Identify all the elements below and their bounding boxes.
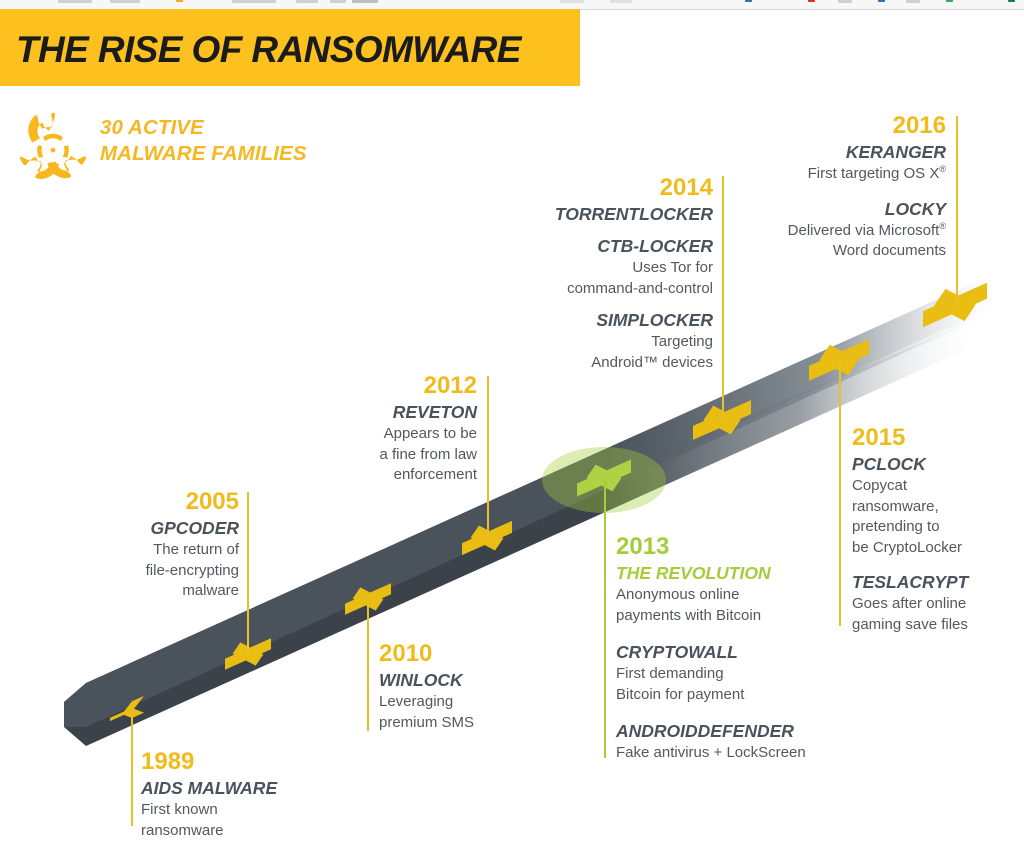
entry-year: 2013 — [616, 533, 876, 561]
connector-2016 — [956, 116, 958, 306]
entry-1989: 1989 AIDS MALWARE First knownransomware — [141, 748, 361, 841]
entry-family: WINLOCK — [379, 669, 599, 692]
entry-desc: Goes after onlinegaming save files — [852, 594, 1024, 635]
entry-desc: First knownransomware — [141, 800, 361, 841]
entry-family: PCLOCK — [852, 453, 1024, 476]
entry-year: 2016 — [730, 112, 946, 140]
entry-desc: Leveragingpremium SMS — [379, 692, 599, 733]
connector-2010 — [367, 601, 369, 731]
entry-year: 2015 — [852, 424, 1024, 452]
connector-2014 — [722, 176, 724, 422]
entry-desc: First targeting OS X® — [730, 164, 946, 185]
entry-desc: Delivered via Microsoft®Word documents — [730, 221, 946, 262]
entry-family: CTB-LOCKER — [494, 235, 713, 258]
entry-2015: 2015 PCLOCK Copycatransomware,pretending… — [852, 424, 1024, 635]
connector-2013 — [604, 480, 606, 758]
entry-family: CRYPTOWALL — [616, 641, 876, 664]
entry-family: LOCKY — [730, 198, 946, 221]
entry-2005: 2005 GPCODER The return offile-encryptin… — [20, 488, 239, 602]
infographic-page: THE RISE OF RANSOMWARE 30 ACTIVE — [0, 0, 1024, 858]
entry-desc: Uses Tor forcommand-and-control — [494, 258, 713, 299]
entry-year: 1989 — [141, 748, 361, 776]
entry-desc: Fake antivirus + LockScreen — [616, 743, 876, 764]
entry-family: TORRENTLOCKER — [494, 203, 713, 226]
entry-2010: 2010 WINLOCK Leveragingpremium SMS — [379, 640, 599, 733]
entry-2013: 2013 THE REVOLUTION Anonymous onlinepaym… — [616, 533, 876, 764]
entry-year: 2014 — [494, 174, 713, 202]
connector-2005 — [247, 492, 249, 654]
entry-year: 2012 — [258, 372, 477, 400]
entry-desc: First demandingBitcoin for payment — [616, 664, 876, 705]
entry-family: THE REVOLUTION — [616, 562, 876, 585]
entry-family: TESLACRYPT — [852, 571, 1024, 594]
entry-desc: Appears to bea fine from lawenforcement — [258, 424, 477, 486]
entry-2016: 2016 KERANGER First targeting OS X® LOCK… — [730, 112, 946, 262]
entry-family: SIMPLOCKER — [494, 309, 713, 332]
entry-family: GPCODER — [20, 517, 239, 540]
entry-desc: Copycatransomware,pretending tobe Crypto… — [852, 476, 1024, 558]
entry-family: KERANGER — [730, 141, 946, 164]
entry-year: 2005 — [20, 488, 239, 516]
entry-year: 2010 — [379, 640, 599, 668]
entry-desc: Anonymous onlinepayments with Bitcoin — [616, 585, 876, 626]
entry-desc: The return offile-encryptingmalware — [20, 540, 239, 602]
entry-2014: 2014 TORRENTLOCKER CTB-LOCKER Uses Tor f… — [494, 174, 713, 373]
entry-2012: 2012 REVETON Appears to bea fine from la… — [258, 372, 477, 486]
entry-family: REVETON — [258, 401, 477, 424]
connector-2012 — [487, 376, 489, 538]
entry-desc: TargetingAndroid™ devices — [494, 332, 713, 373]
connector-1989 — [131, 716, 133, 826]
entry-family: ANDROIDDEFENDER — [616, 720, 876, 743]
entry-family: AIDS MALWARE — [141, 777, 361, 800]
